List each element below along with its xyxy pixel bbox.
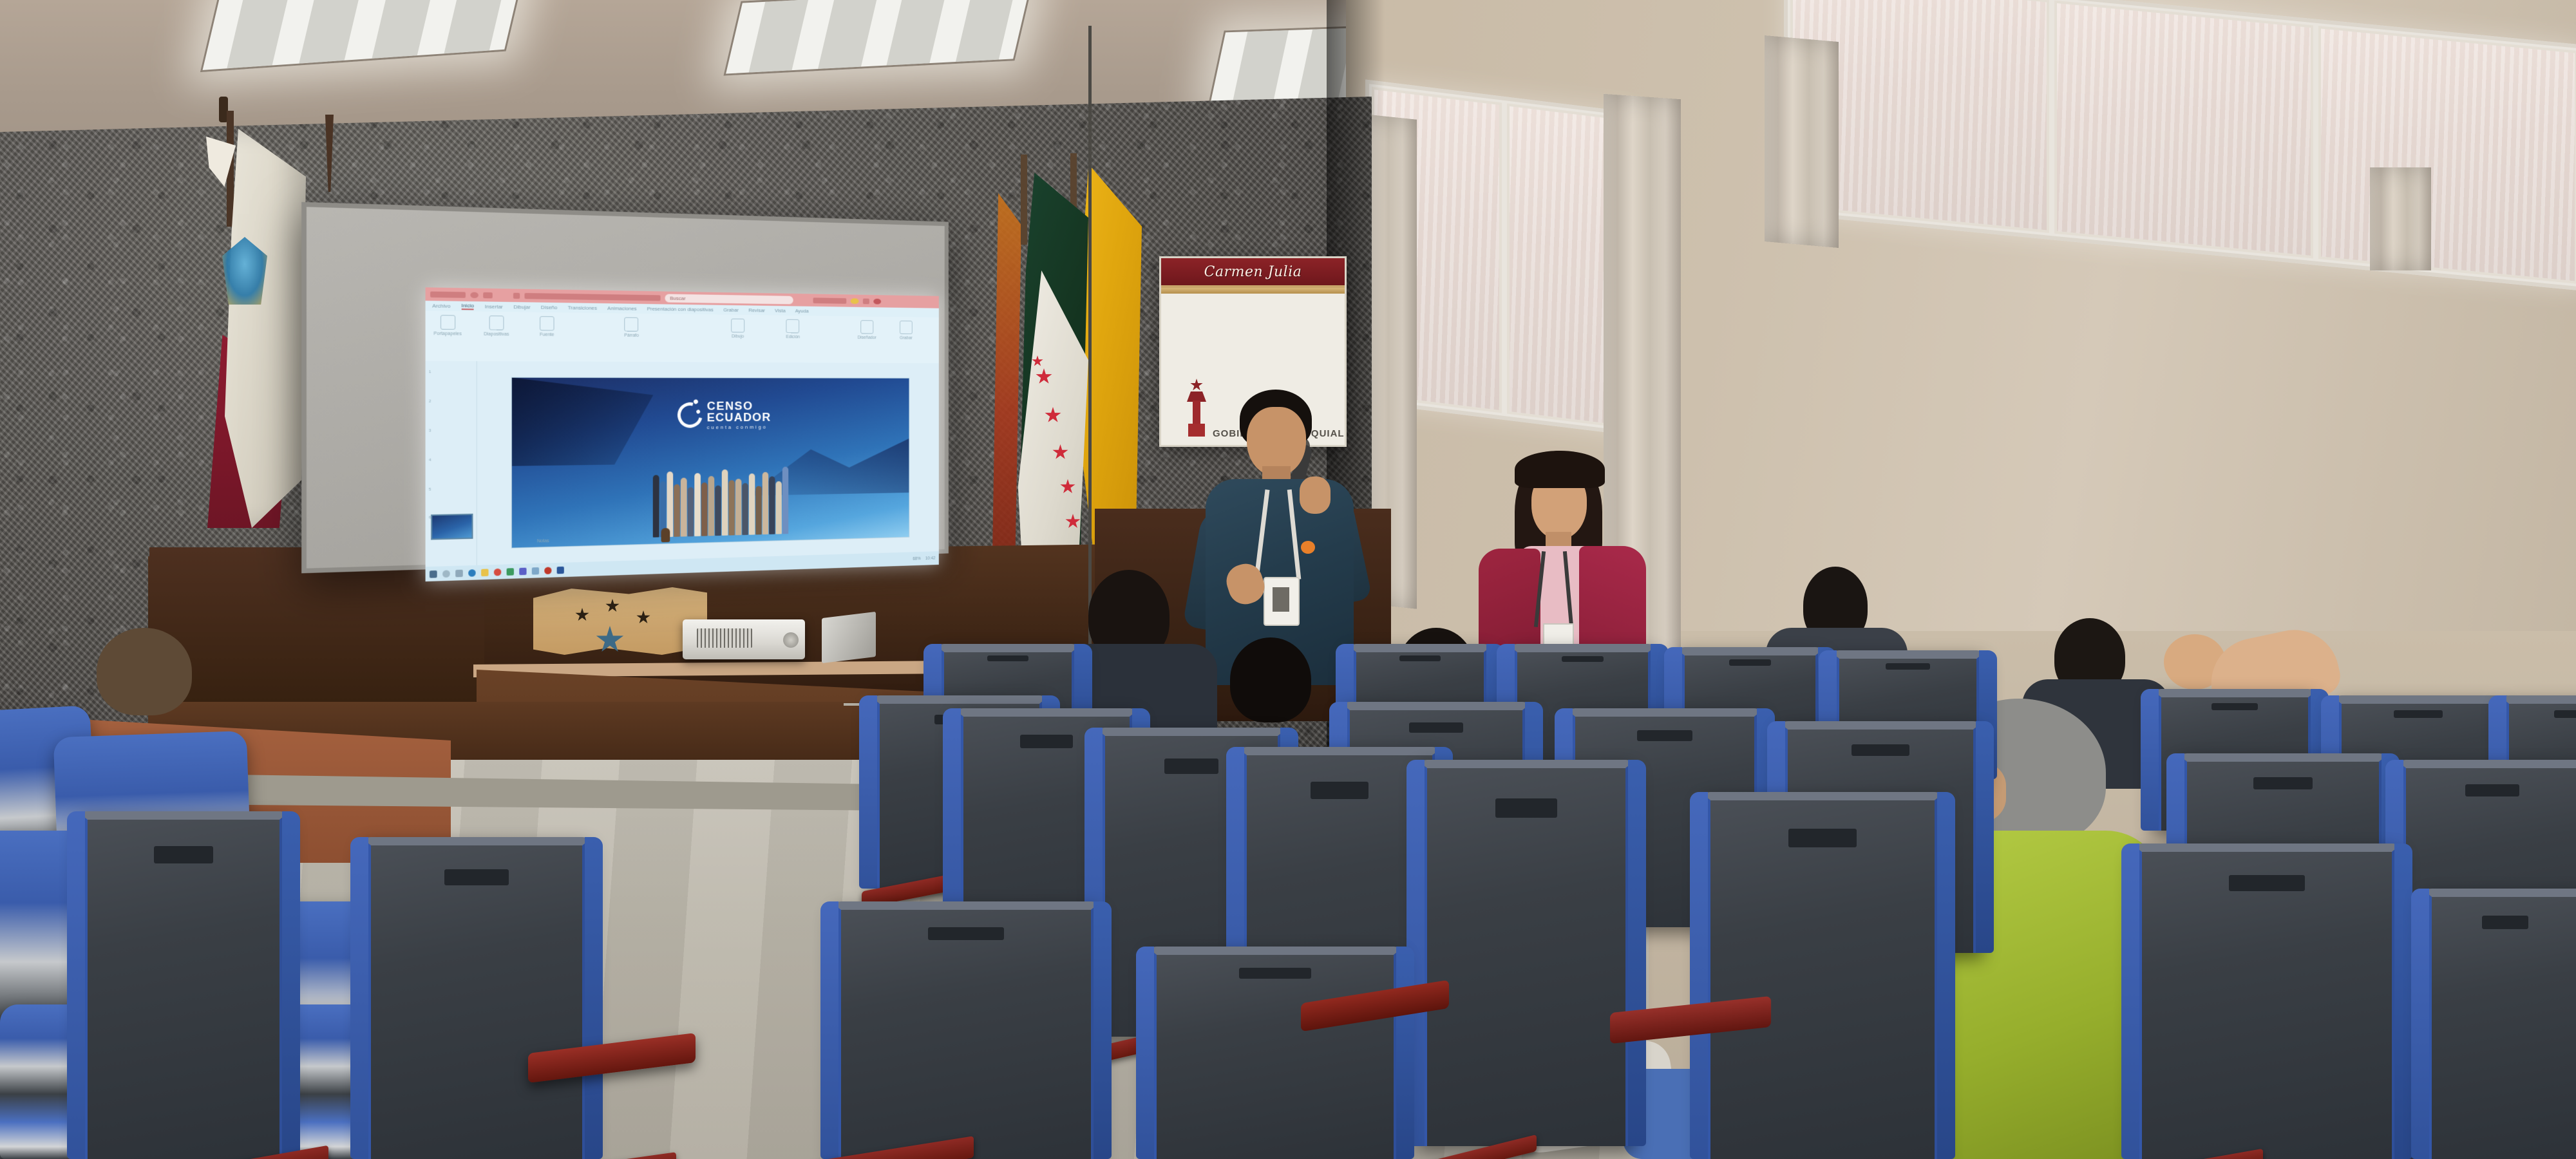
mail-icon[interactable] [544, 567, 551, 574]
window-pane [2054, 1, 2313, 259]
window-pane [2318, 26, 2576, 284]
ribbon-group-label: Portapapeles [433, 332, 462, 337]
curtain [1765, 35, 1839, 248]
designer-icon[interactable] [860, 320, 873, 334]
teams-icon[interactable] [519, 567, 526, 575]
projection-screen: Buscar Archivo Inicio Insertar Dibujar D… [301, 202, 949, 574]
censo-swirl-icon [673, 398, 707, 433]
logo-tagline: cuenta conmigo [707, 424, 772, 429]
ppt-workspace: 1 2 3 4 5 6 CENSO [426, 361, 939, 567]
zoom-level[interactable]: 68% [913, 556, 921, 561]
ribbon-group-label: Fuente [540, 332, 554, 337]
attendee-head [1230, 637, 1311, 722]
ppt-tab[interactable]: Transiciones [568, 305, 597, 311]
taskview-icon[interactable] [455, 569, 463, 577]
seat[interactable] [831, 901, 1101, 1159]
thumb-number: 1 [429, 370, 431, 374]
office-icon[interactable] [507, 568, 514, 576]
ribbon-group-label: Edición [786, 335, 800, 339]
word-icon[interactable] [557, 566, 564, 574]
ribbon-panel-label: Diseñador [858, 335, 876, 340]
ppt-search-box[interactable]: Buscar [665, 294, 793, 304]
seat[interactable] [1700, 792, 1945, 1159]
slide-notes-hint[interactable]: Notas [537, 539, 549, 544]
ppt-tab[interactable]: Vista [775, 308, 786, 314]
flagpole [1021, 155, 1027, 245]
seat[interactable] [1417, 760, 1636, 1146]
ppt-ribbon[interactable]: Portapapeles Diapositivas Fuente Párrafo… [426, 311, 939, 364]
speaker-hand-right [1300, 476, 1331, 514]
censo-ecuador-logo: CENSO ECUADOR cuenta conmigo [677, 400, 771, 429]
projected-powerpoint-window[interactable]: Buscar Archivo Inicio Insertar Dibujar D… [426, 287, 939, 581]
new-slide-icon[interactable] [489, 316, 504, 330]
panelist-hair-front [1515, 451, 1605, 488]
ribbon-group-label: Párrafo [624, 334, 639, 338]
ppt-tab[interactable]: Revisar [748, 307, 765, 313]
logo-line-2: ECUADOR [707, 412, 772, 424]
thumb-number: 3 [429, 429, 431, 433]
projector-lens-icon [783, 632, 799, 648]
seat[interactable] [77, 811, 290, 1159]
auditorium-scene: Carmen Julia GOBIERNO PARROQUIAL [0, 0, 2576, 1159]
slide-crowd-photo [563, 455, 872, 540]
ppt-tab-active[interactable]: Inicio [461, 303, 474, 310]
thumb-number: 2 [429, 400, 431, 404]
microphone-stand [1088, 26, 1092, 644]
ribbon-panel-label: Grabar [900, 336, 913, 341]
ppt-tab[interactable]: Diseño [541, 305, 557, 311]
ribbon-group-label: Diapositivas [484, 332, 509, 337]
banner-gold-rule [1161, 288, 1345, 294]
thumb-number: 4 [429, 458, 431, 462]
ppt-tab[interactable]: Grabar [723, 307, 739, 313]
edge-icon[interactable] [468, 569, 476, 577]
taskbar-clock: 10:42 [925, 556, 936, 560]
thumb-number: 5 [429, 488, 431, 492]
ppt-tab[interactable]: Archivo [432, 303, 450, 309]
ppt-tab[interactable]: Presentación con diapositivas [647, 306, 714, 312]
editing-icon[interactable] [786, 319, 800, 334]
ppt-tab[interactable]: Insertar [485, 303, 503, 310]
projector[interactable] [683, 619, 805, 659]
slide-bg-shape-left [512, 377, 653, 466]
slide-thumbnail-panel[interactable]: 1 2 3 4 5 6 [426, 361, 477, 567]
banner-title-bar: Carmen Julia [1161, 258, 1345, 288]
seat[interactable] [361, 837, 592, 1159]
curtain [2370, 167, 2431, 270]
store-icon[interactable] [532, 567, 539, 575]
explorer-icon[interactable] [481, 569, 488, 576]
record-icon[interactable] [900, 321, 913, 334]
shapes-icon[interactable] [731, 319, 744, 333]
ppt-tab[interactable]: Animaciones [607, 305, 637, 312]
ppt-search-placeholder: Buscar [670, 295, 685, 301]
chrome-icon[interactable] [494, 568, 501, 576]
slide-dog [661, 528, 670, 542]
banner-script-name: Carmen Julia [1204, 264, 1302, 280]
slide-content: CENSO ECUADOR cuenta conmigo [511, 377, 909, 549]
carved-flag-emblem [533, 587, 707, 655]
ppt-tab[interactable]: Ayuda [795, 308, 809, 314]
paste-icon[interactable] [440, 315, 455, 330]
font-icon[interactable] [540, 316, 554, 331]
start-icon[interactable] [430, 570, 437, 578]
search-icon[interactable] [442, 570, 450, 578]
ribbon-group-label: Dibujo [732, 334, 744, 339]
speaker-id-badge [1264, 577, 1300, 626]
seat[interactable] [2421, 889, 2576, 1159]
ppt-tab[interactable]: Dibujar [513, 304, 530, 310]
speaker-lapel-pin [1301, 541, 1315, 554]
seat[interactable] [2132, 843, 2402, 1159]
attendee-head [97, 628, 192, 715]
paragraph-icon[interactable] [625, 317, 639, 332]
slide-thumbnail-1[interactable] [431, 514, 473, 540]
tower-logo-icon [1184, 379, 1209, 437]
seat[interactable] [1146, 947, 1404, 1159]
slide-canvas[interactable]: CENSO ECUADOR cuenta conmigo [477, 361, 939, 565]
projector-vent [697, 628, 752, 648]
laptop[interactable] [822, 612, 876, 663]
